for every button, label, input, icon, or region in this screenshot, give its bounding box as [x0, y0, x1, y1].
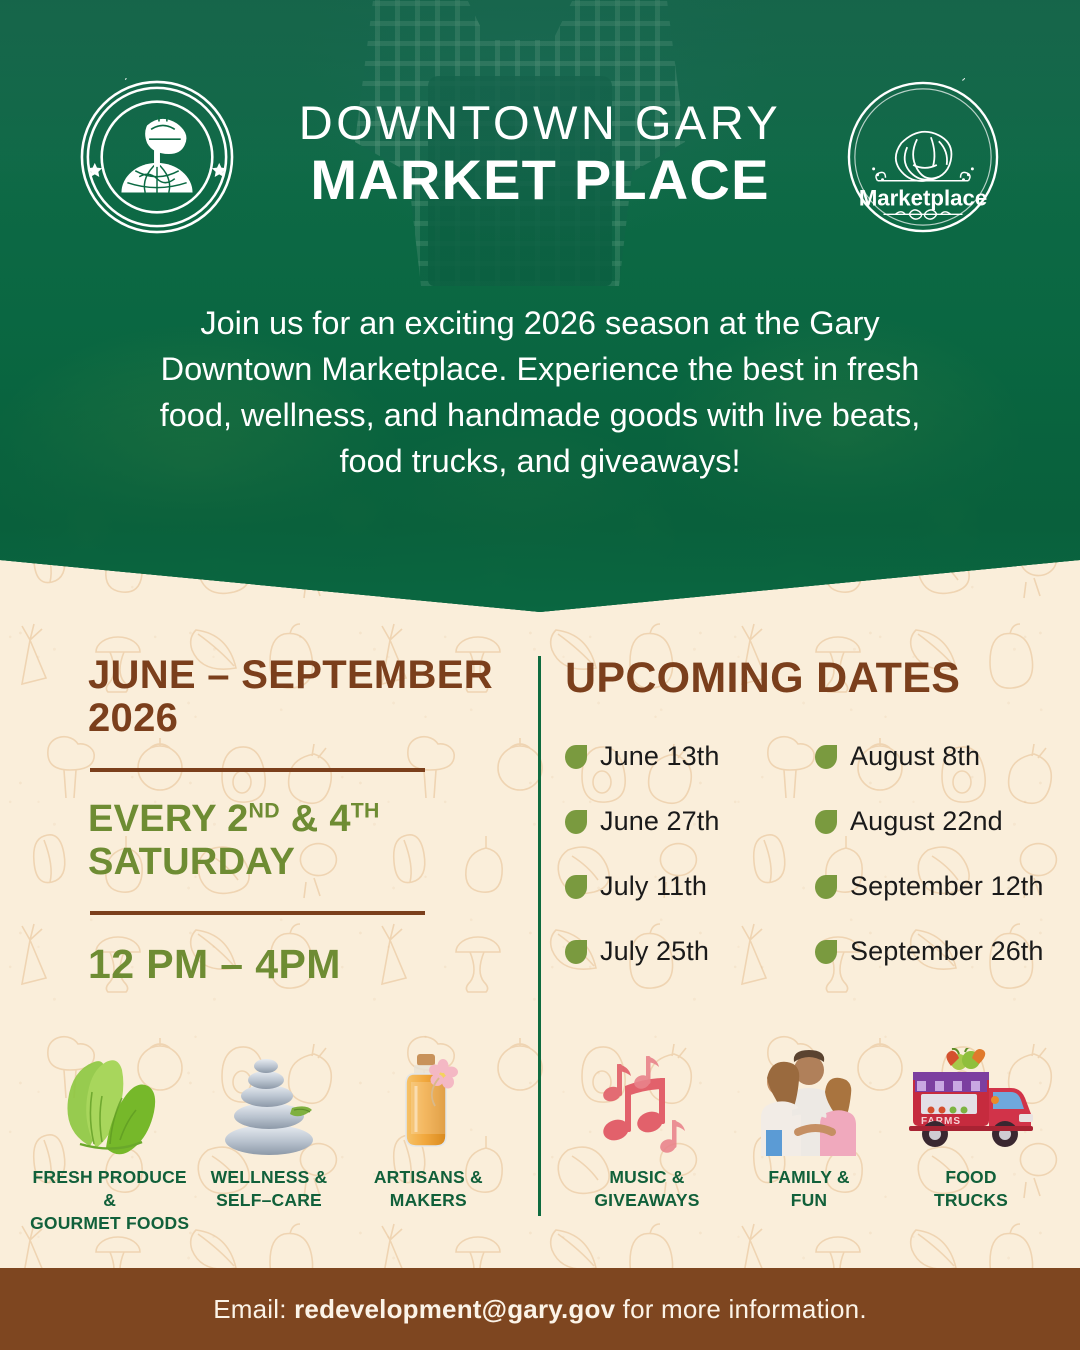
seal-bottom-text: GARY, INDIANA — [78, 78, 210, 81]
footer-prefix: Email: — [213, 1294, 294, 1324]
schedule-column: JUNE – SEPTEMBER 2026 EVERY 2ND & 4TH SA… — [88, 654, 508, 988]
frequency-sup-th: TH — [351, 799, 380, 823]
music-notes-icon — [582, 1048, 712, 1156]
divider-rule-top — [90, 768, 425, 772]
feature-label: WELLNESS & SELF–CARE — [211, 1166, 328, 1212]
upcoming-dates-heading: UPCOMING DATES — [565, 654, 1045, 703]
date-item: June 27th — [565, 806, 815, 837]
footer-bar: Email: redevelopment@gary.gov for more i… — [0, 1268, 1080, 1350]
frequency-pre: EVERY 2 — [88, 798, 249, 840]
feature-label: FRESH PRODUCE & GOURMET FOODS — [30, 1166, 189, 1234]
date-label: September 12th — [850, 871, 1044, 902]
feature-label: FAMILY & FUN — [768, 1166, 849, 1212]
leaf-bullet-icon — [815, 745, 837, 769]
frequency-mid: & 4 — [280, 798, 351, 840]
footer-suffix: for more information. — [615, 1294, 867, 1324]
marketplace-arc-text: Downtown Gary — [844, 78, 971, 81]
date-label: July 11th — [600, 871, 707, 902]
date-item: June 13th — [565, 741, 815, 772]
season-line2: 2026 — [88, 696, 178, 740]
date-label: September 26th — [850, 936, 1044, 967]
date-item: July 11th — [565, 871, 815, 902]
date-label: August 8th — [850, 741, 980, 772]
feature-fresh-produce: FRESH PRODUCE & GOURMET FOODS — [30, 1048, 189, 1223]
leaf-bullet-icon — [565, 810, 587, 834]
marketplace-word-text: Marketplace — [859, 185, 987, 210]
page-title-line2: MARKET PLACE — [236, 151, 844, 210]
feature-music: MUSIC & GIVEAWAYS — [566, 1048, 728, 1223]
features-right-group: MUSIC & GIVEAWAYS — [538, 1048, 1080, 1223]
title-block: DOWNTOWN GARY MARKET PLACE — [236, 99, 844, 216]
oil-bottle-icon — [383, 1048, 473, 1156]
leaf-bullet-icon — [815, 940, 837, 964]
page-title-line1: DOWNTOWN GARY — [236, 99, 844, 147]
leaf-bullet-icon — [565, 875, 587, 899]
date-item: July 25th — [565, 936, 815, 967]
feature-label: MUSIC & GIVEAWAYS — [594, 1166, 699, 1212]
date-label: June 13th — [600, 741, 720, 772]
flyer-canvas: CITY OF THE CENTURY GARY, INDIANA — [0, 0, 1080, 1350]
frequency-heading: EVERY 2ND & 4TH SATURDAY — [88, 798, 508, 883]
city-seal-logo: CITY OF THE CENTURY GARY, INDIANA — [78, 78, 236, 236]
marketplace-logo: Downtown Gary — [844, 78, 1002, 236]
date-item: September 12th — [815, 871, 1045, 902]
feature-artisans: ARTISANS & MAKERS — [349, 1048, 508, 1223]
leaf-bullet-icon — [815, 810, 837, 834]
feature-family: FAMILY & FUN — [728, 1048, 890, 1223]
date-item: September 26th — [815, 936, 1045, 967]
season-line1: JUNE – SEPTEMBER — [88, 653, 493, 697]
feature-label: ARTISANS & MAKERS — [374, 1166, 483, 1212]
dates-grid: June 13th August 8th June 27th August 22… — [565, 741, 1045, 967]
time-heading: 12 PM – 4PM — [88, 941, 508, 988]
intro-paragraph: Join us for an exciting 2026 season at t… — [125, 300, 955, 485]
date-item: August 8th — [815, 741, 1045, 772]
lettuce-icon — [50, 1048, 170, 1156]
food-truck-icon: FARMS — [901, 1048, 1041, 1156]
date-label: August 22nd — [850, 806, 1003, 837]
header-row: CITY OF THE CENTURY GARY, INDIANA — [0, 72, 1080, 242]
features-row: FRESH PRODUCE & GOURMET FOODS — [0, 1048, 1080, 1223]
date-label: June 27th — [600, 806, 720, 837]
footer-email[interactable]: redevelopment@gary.gov — [294, 1294, 615, 1324]
upcoming-dates-column: UPCOMING DATES June 13th August 8th June… — [565, 654, 1045, 967]
leaf-bullet-icon — [565, 940, 587, 964]
leaf-bullet-icon — [815, 875, 837, 899]
date-item: August 22nd — [815, 806, 1045, 837]
features-left-group: FRESH PRODUCE & GOURMET FOODS — [0, 1048, 538, 1223]
family-icon — [754, 1048, 864, 1156]
feature-wellness: WELLNESS & SELF–CARE — [189, 1048, 348, 1223]
feature-label: FOOD TRUCKS — [934, 1166, 1008, 1212]
date-label: July 25th — [600, 936, 709, 967]
leaf-bullet-icon — [565, 745, 587, 769]
city-seal-globe-icon — [121, 116, 192, 193]
divider-rule-bottom — [90, 911, 425, 915]
zen-stones-icon — [214, 1048, 324, 1156]
feature-food-trucks: FARMS FOOD TRUCKS — [890, 1048, 1052, 1223]
cabbage-icon — [896, 132, 952, 181]
frequency-line2: SATURDAY — [88, 841, 295, 883]
frequency-sup-nd: ND — [249, 799, 280, 823]
footer-contact-text: Email: redevelopment@gary.gov for more i… — [213, 1294, 867, 1325]
season-heading: JUNE – SEPTEMBER 2026 — [88, 654, 508, 740]
